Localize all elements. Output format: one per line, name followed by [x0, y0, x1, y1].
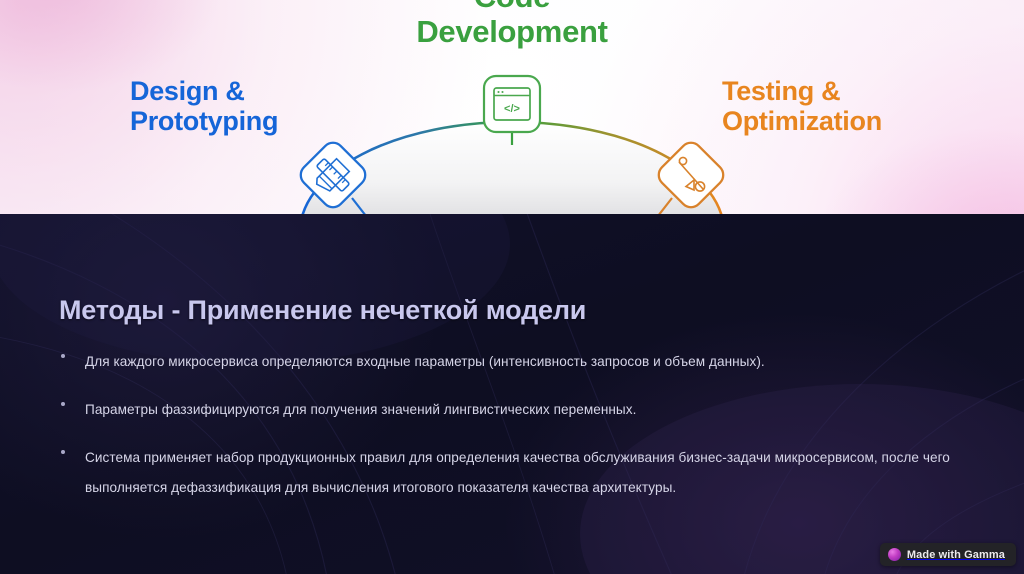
- hero-label-code-line1: Code: [0, 0, 1024, 15]
- bullet-text: Для каждого микросервиса определяются вх…: [85, 354, 765, 369]
- hero-label-design-line2: Prototyping: [130, 106, 278, 136]
- bullet-dot-icon: [61, 354, 65, 358]
- hero-label-code-line2: Development: [0, 15, 1024, 50]
- hero-label-testing-optimization: Testing & Optimization: [722, 76, 882, 136]
- bullet-text: Система применяет набор продукционных пр…: [85, 450, 950, 495]
- hero-label-testing-line2: Optimization: [722, 106, 882, 136]
- svg-text:</>: </>: [504, 103, 520, 115]
- made-with-gamma-badge[interactable]: Made with Gamma: [880, 543, 1016, 566]
- bullet-dot-icon: [61, 402, 65, 406]
- list-item: Система применяет набор продукционных пр…: [59, 443, 964, 503]
- slide-content: Методы - Применение нечеткой модели Для …: [0, 214, 1024, 574]
- hero-label-design-line1: Design &: [130, 76, 278, 106]
- bullet-dot-icon: [61, 450, 65, 454]
- hero-label-code-development: Code Development: [0, 0, 1024, 49]
- slide-root: </>: [0, 0, 1024, 574]
- bullet-list: Для каждого микросервиса определяются вх…: [59, 347, 964, 521]
- page-title: Методы - Применение нечеткой модели: [59, 295, 586, 326]
- slide-body: Методы - Применение нечеткой модели Для …: [0, 214, 1024, 574]
- hero-banner-image: </>: [0, 0, 1024, 214]
- hero-label-design-prototyping: Design & Prototyping: [130, 76, 278, 136]
- list-item: Для каждого микросервиса определяются вх…: [59, 347, 964, 377]
- made-with-gamma-label: Made with Gamma: [907, 549, 1005, 561]
- list-item: Параметры фаззифицируются для получения …: [59, 395, 964, 425]
- bullet-text: Параметры фаззифицируются для получения …: [85, 402, 636, 417]
- hero-label-testing-line1: Testing &: [722, 76, 882, 106]
- gamma-logo-icon: [888, 548, 901, 561]
